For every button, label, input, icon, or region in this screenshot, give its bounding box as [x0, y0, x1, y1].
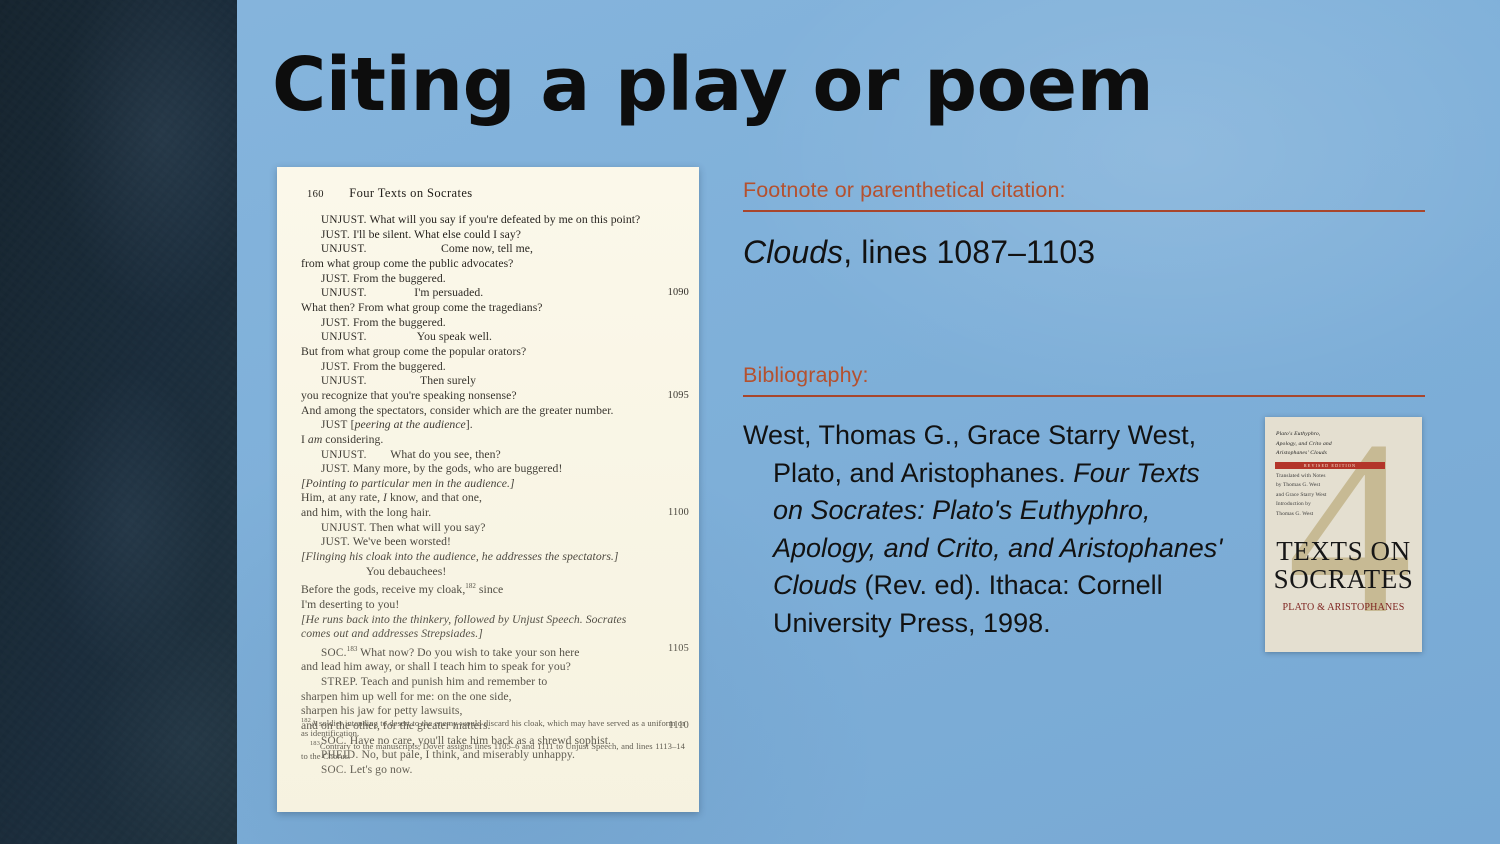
scan-dialogue-line: you recognize that you're speaking nonse…: [301, 389, 689, 404]
scan-footnote-marker: 182: [301, 717, 311, 724]
scan-line-text: and him, with the long hair.: [301, 506, 431, 519]
scan-speaker-label: JUST.: [321, 463, 350, 475]
scan-speaker-label: STREP.: [321, 676, 358, 688]
scan-line-number: 1105: [668, 642, 689, 657]
cover-credits-block: Translated with Notes by Thomas G. West …: [1276, 472, 1388, 519]
scan-line-text: 183 What now? Do you wish to take your s…: [347, 646, 580, 659]
scan-speaker-label: UNJUST.: [321, 331, 367, 343]
cover-credit-line4: Introduction by: [1276, 501, 1311, 507]
scan-dialogue-line: SOC.183 What now? Do you wish to take yo…: [301, 642, 689, 661]
scan-running-head: 160 Four Texts on Socrates: [307, 186, 473, 201]
scan-line-text: Let's go now.: [347, 763, 413, 776]
cover-authors: PLATO & ARISTOPHANES: [1265, 602, 1422, 613]
scan-speaker-label: JUST: [321, 419, 348, 431]
cover-credit-line5: Thomas G. West: [1276, 511, 1313, 517]
scan-speaker-label: JUST.: [321, 536, 350, 548]
scan-dialogue-line: [He runs back into the thinkery, followe…: [301, 613, 689, 628]
scan-speaker-label: UNJUST.: [321, 214, 367, 226]
cover-credit-line3: and Grace Starry West: [1276, 492, 1327, 498]
scan-dialogue-line: And among the spectators, consider which…: [301, 404, 689, 419]
scan-dialogue-line: [Pointing to particular men in the audie…: [301, 477, 689, 492]
scan-dialogue-line: STREP. Teach and punish him and remember…: [301, 675, 689, 690]
scan-dialogue-line: UNJUST. What do you see, then?: [301, 448, 689, 463]
scan-line-text: What then? From what group come the trag…: [301, 301, 543, 314]
scan-dialogue-text: UNJUST. What will you say if you're defe…: [301, 213, 689, 778]
scan-dialogue-line: comes out and addresses Strepsiades.]: [301, 627, 689, 642]
scan-dialogue-line: UNJUST. Then what will you say?: [301, 521, 689, 536]
scan-line-text: From the buggered.: [350, 316, 446, 329]
scan-line-text: you recognize that you're speaking nonse…: [301, 389, 517, 402]
scan-line-text: Come now, tell me,: [367, 242, 533, 255]
scan-line-text: You debauchees!: [301, 565, 446, 578]
scan-line-text: Him, at any rate, I know, and that one,: [301, 491, 482, 504]
scan-dialogue-line: from what group come the public advocate…: [301, 257, 689, 272]
scan-footnote-text: A soldier intending to desert to the ene…: [301, 718, 685, 738]
slide-canvas: Citing a play or poem 160 Four Texts on …: [0, 0, 1500, 844]
footnote-line-range: , lines 1087–1103: [843, 234, 1095, 270]
scan-footnote-marker: 183: [310, 740, 320, 747]
scan-speaker-label: UNJUST.: [321, 243, 367, 255]
cover-title-line2: SOCRATES: [1274, 564, 1414, 594]
scan-dialogue-line: What then? From what group come the trag…: [301, 301, 689, 316]
cover-subtitle-block: Plato's Euthyphro, Apology, and Crito an…: [1276, 430, 1384, 459]
sidebar-texture: [0, 0, 237, 844]
cover-subtitle-line1: Plato's Euthyphro,: [1276, 431, 1320, 437]
cover-subtitle-line3: Aristophanes' Clouds: [1276, 450, 1327, 456]
scan-line-text: I'll be silent. What else could I say?: [350, 228, 521, 241]
scan-dialogue-line: You debauchees!: [301, 565, 689, 580]
scan-dialogue-line: and him, with the long hair.1100: [301, 506, 689, 521]
scan-dialogue-line: Before the gods, receive my cloak,182 si…: [301, 579, 689, 598]
scan-dialogue-line: I'm deserting to you!: [301, 598, 689, 613]
scan-line-text: [He runs back into the thinkery, followe…: [301, 613, 626, 626]
scan-dialogue-line: JUST. From the buggered.: [301, 316, 689, 331]
scan-line-text: sharpen him up well for me: on the one s…: [301, 690, 512, 703]
scan-dialogue-line: JUST. Many more, by the gods, who are bu…: [301, 462, 689, 477]
scan-book-title: Four Texts on Socrates: [349, 186, 472, 200]
scan-line-text: [Flinging his cloak into the audience, h…: [301, 550, 619, 563]
scan-dialogue-line: Him, at any rate, I know, and that one,: [301, 491, 689, 506]
scan-dialogue-line: JUST. From the buggered.: [301, 272, 689, 287]
scan-line-text: What do you see, then?: [367, 448, 501, 461]
scan-dialogue-line: and lead him away, or shall I teach him …: [301, 660, 689, 675]
book-page-scan-image: 160 Four Texts on Socrates UNJUST. What …: [277, 167, 699, 812]
scan-dialogue-line: JUST. We've been worsted!: [301, 535, 689, 550]
scan-dialogue-line: JUST. From the buggered.: [301, 360, 689, 375]
scan-speaker-label: JUST.: [321, 229, 350, 241]
footnote-work-title: Clouds: [743, 234, 843, 270]
scan-page-number: 160: [307, 189, 324, 200]
scan-footnotes: 182A soldier intending to desert to the …: [301, 716, 685, 761]
scan-dialogue-line: UNJUST. What will you say if you're defe…: [301, 213, 689, 228]
cover-credit-line2: by Thomas G. West: [1276, 482, 1320, 488]
scan-footnote: 183Contrary to the manuscripts, Dover as…: [301, 739, 685, 762]
scan-line-text: What will you say if you're defeated by …: [367, 213, 641, 226]
scan-speaker-label: UNJUST.: [321, 522, 367, 534]
scan-speaker-label: UNJUST.: [321, 287, 367, 299]
scan-line-text: from what group come the public advocate…: [301, 257, 513, 270]
bibliography-entry: West, Thomas G., Grace Starry West, Plat…: [743, 417, 1225, 642]
scan-dialogue-line: sharpen him up well for me: on the one s…: [301, 690, 689, 705]
scan-line-text: But from what group come the popular ora…: [301, 345, 526, 358]
scan-line-text: You speak well.: [367, 330, 492, 343]
footnote-citation-block: Footnote or parenthetical citation: Clou…: [743, 178, 1425, 271]
scan-dialogue-line: SOC. Let's go now.: [301, 763, 689, 778]
scan-line-text: From the buggered.: [350, 272, 446, 285]
scan-line-text: Then surely: [367, 374, 476, 387]
scan-dialogue-line: UNJUST. You speak well.: [301, 330, 689, 345]
scan-speaker-label: SOC.: [321, 647, 347, 659]
scan-line-text: I am considering.: [301, 433, 383, 446]
scan-speaker-label: UNJUST.: [321, 449, 367, 461]
scan-speaker-label: JUST.: [321, 317, 350, 329]
scan-dialogue-line: JUST. I'll be silent. What else could I …: [301, 228, 689, 243]
scan-line-text: Before the gods, receive my cloak,182 si…: [301, 583, 503, 596]
scan-line-text: And among the spectators, consider which…: [301, 404, 613, 417]
footnote-divider: [743, 210, 1425, 212]
scan-dialogue-line: But from what group come the popular ora…: [301, 345, 689, 360]
scan-dialogue-line: UNJUST. Then surely: [301, 374, 689, 389]
footnote-heading: Footnote or parenthetical citation:: [743, 178, 1425, 203]
scan-line-text: Many more, by the gods, who are buggered…: [350, 462, 562, 475]
page-title: Citing a play or poem: [272, 48, 1172, 122]
scan-dialogue-line: UNJUST. Come now, tell me,: [301, 242, 689, 257]
cover-title-line1: TEXTS ON: [1276, 536, 1411, 566]
scan-speaker-label: JUST.: [321, 273, 350, 285]
scan-line-text: comes out and addresses Strepsiades.]: [301, 627, 483, 640]
scan-line-text: Then what will you say?: [367, 521, 486, 534]
scan-line-number: 1100: [668, 506, 689, 521]
scan-dialogue-line: UNJUST. I'm persuaded.1090: [301, 286, 689, 301]
scan-dialogue-line: I am considering.: [301, 433, 689, 448]
scan-line-text: [peering at the audience].: [348, 418, 473, 431]
scan-line-text: From the buggered.: [350, 360, 446, 373]
scan-line-text: I'm deserting to you!: [301, 598, 399, 611]
scan-dialogue-line: [Flinging his cloak into the audience, h…: [301, 550, 689, 565]
scan-speaker-label: SOC.: [321, 764, 347, 776]
footnote-citation-value: Clouds, lines 1087–1103: [743, 234, 1425, 271]
cover-subtitle-line2: Apology, and Crito and: [1276, 441, 1332, 447]
scan-footnote-text: Contrary to the manuscripts, Dover assig…: [301, 741, 685, 761]
scan-line-text: I'm persuaded.: [367, 286, 484, 299]
scan-dialogue-line: JUST [peering at the audience].: [301, 418, 689, 433]
cover-credit-line1: Translated with Notes: [1276, 473, 1326, 479]
scan-line-text: We've been worsted!: [350, 535, 451, 548]
scan-speaker-label: JUST.: [321, 361, 350, 373]
scan-footnote: 182A soldier intending to desert to the …: [301, 716, 685, 739]
scan-line-text: [Pointing to particular men in the audie…: [301, 477, 515, 490]
bibliography-heading: Bibliography:: [743, 363, 1425, 388]
bibliography-divider: [743, 395, 1425, 397]
sidebar-accent-bar: [0, 0, 237, 844]
cover-title-block: TEXTS ON SOCRATES: [1265, 537, 1422, 593]
scan-speaker-label: UNJUST.: [321, 375, 367, 387]
book-cover-image: 4 Plato's Euthyphro, Apology, and Crito …: [1265, 417, 1422, 652]
scan-line-number: 1090: [668, 286, 689, 301]
cover-revised-badge: REVISED EDITION: [1275, 462, 1385, 469]
scan-line-number: 1095: [668, 389, 689, 404]
scan-line-text: Teach and punish him and remember to: [358, 675, 547, 688]
scan-line-text: and lead him away, or shall I teach him …: [301, 660, 571, 673]
